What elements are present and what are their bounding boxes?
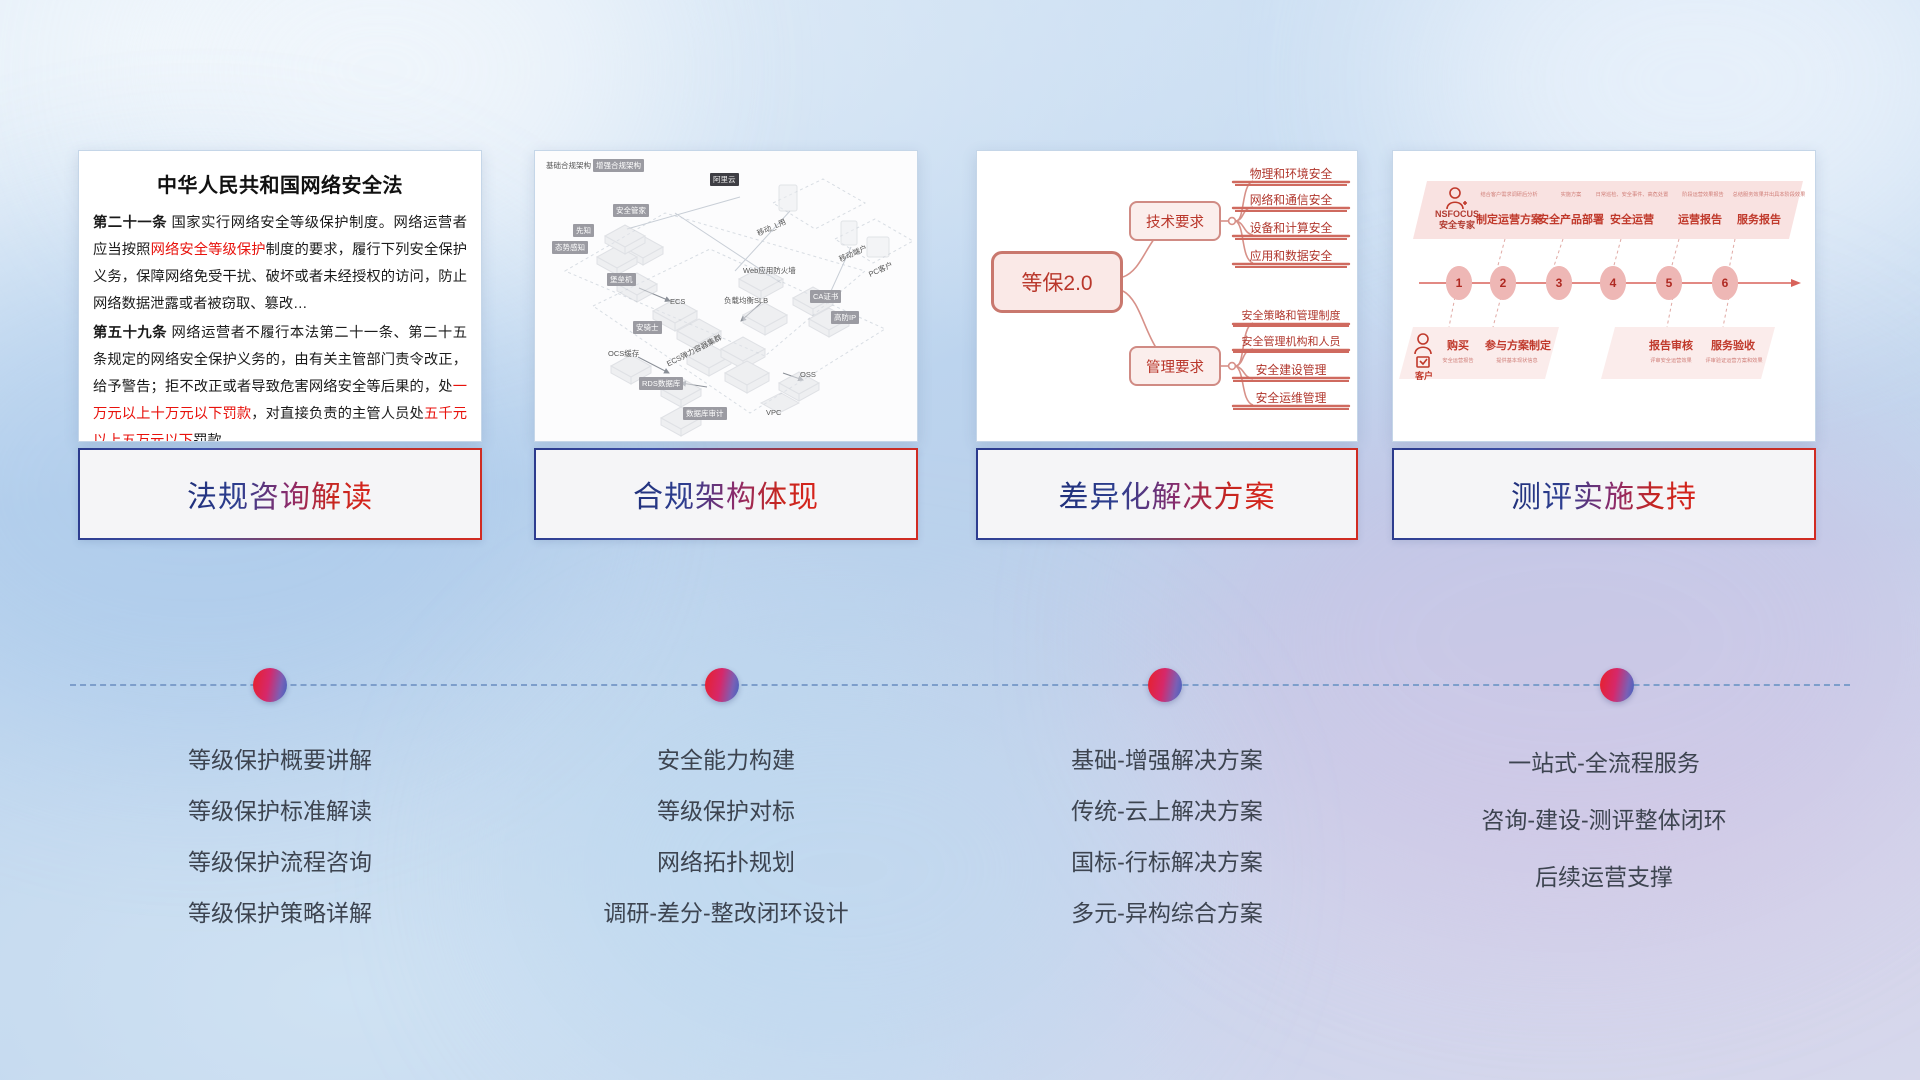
article-number-21: 第二十一条	[93, 215, 167, 231]
arch-node-rds-database: RDS数据库	[639, 377, 683, 390]
timeline-step-number-6: 6	[1712, 266, 1738, 299]
list-item: 等级保护策略详解	[78, 888, 482, 939]
title-box-regulation-consulting[interactable]: 法规咨询解读	[78, 448, 482, 540]
timeline-top-step-3: 安全运营	[1599, 211, 1665, 227]
title-box-compliance-architecture[interactable]: 合规架构体现	[534, 448, 918, 540]
title-box-row: 法规咨询解读 合规架构体现 差异化解决方案 测评实施支持	[0, 448, 1920, 540]
mindmap-leaf-construction-mgmt: 安全建设管理	[1233, 361, 1349, 382]
law-body: 第二十一条 国家实行网络安全等级保护制度。网络运营者应当按照网络安全等级保护制度…	[79, 198, 481, 442]
timeline-bottom-sub-1: 安全运营报告	[1433, 357, 1483, 364]
feature-list-regulation-consulting: 等级保护概要讲解 等级保护标准解读 等级保护流程咨询 等级保护策略详解	[78, 735, 482, 939]
list-item: 等级保护标准解读	[78, 786, 482, 837]
timeline-dot-2[interactable]	[705, 668, 739, 702]
title-box-differentiated-solution[interactable]: 差异化解决方案	[976, 448, 1358, 540]
architecture-canvas: 基础合规架构 增强合规架构 阿里云 安全管家 先知 态势感知 堡垒机 ECS 安…	[535, 151, 917, 441]
timeline-top-sub-5: 总结服务效果并出具本阶段效果	[1725, 191, 1813, 198]
arch-node-anqishi: 安骑士	[633, 321, 662, 334]
arch-tab-enhanced[interactable]: 增强合规架构	[593, 159, 644, 172]
mind-map-canvas: 等保2.0 技术要求 管理要求 物理和环境安全 网络和通信安全 设备和计算安全 …	[977, 151, 1357, 441]
timeline-top-step-4: 运营报告	[1667, 211, 1733, 227]
timeline-bottom-sub-4: 评审验证运营方案和效果	[1699, 357, 1769, 364]
title-label: 差异化解决方案	[1059, 472, 1276, 516]
card-row: 中华人民共和国网络安全法 第二十一条 国家实行网络安全等级保护制度。网络运营者应…	[0, 150, 1920, 442]
timeline-dot-3[interactable]	[1148, 668, 1182, 702]
timeline-dot-1[interactable]	[253, 668, 287, 702]
list-item: 等级保护流程咨询	[78, 837, 482, 888]
title-label: 合规架构体现	[633, 472, 819, 516]
arch-node-security-butler: 安全管家	[613, 204, 649, 217]
mindmap-leaf-org-personnel: 安全管理机构和人员	[1233, 333, 1349, 353]
list-item: 网络拓扑规划	[534, 837, 918, 888]
timeline-bottom-step-2: 参与方案制定	[1481, 337, 1555, 353]
mindmap-root-node: 等保2.0	[991, 251, 1123, 313]
list-item: 一站式-全流程服务	[1392, 735, 1816, 792]
law-run-highlight: 网络安全等级保护	[151, 242, 266, 258]
card-service-timeline[interactable]: NSFOCUS 安全专家 客户 结合客户需求调研后分析 制定运营方案 实施方案 …	[1392, 150, 1816, 442]
timeline-dot-4[interactable]	[1600, 668, 1634, 702]
list-item: 多元-异构综合方案	[976, 888, 1358, 939]
list-item: 等级保护对标	[534, 786, 918, 837]
timeline-top-step-2: 安全产品部署	[1533, 211, 1609, 227]
arch-node-xianzhi: 先知	[573, 224, 594, 237]
law-run: 罚款。	[193, 433, 236, 442]
list-item: 基础-增强解决方案	[976, 735, 1358, 786]
timeline-top-step-5: 服务报告	[1729, 211, 1789, 227]
feature-list-compliance-architecture: 安全能力构建 等级保护对标 网络拓扑规划 调研-差分-整改闭环设计	[534, 735, 918, 939]
list-item: 咨询-建设-测评整体闭环	[1392, 792, 1816, 849]
arch-node-vpc: VPC	[763, 407, 784, 418]
timeline-actor-customer: 客户	[1403, 369, 1445, 382]
service-timeline-canvas: NSFOCUS 安全专家 客户 结合客户需求调研后分析 制定运营方案 实施方案 …	[1393, 151, 1815, 441]
law-title: 中华人民共和国网络安全法	[79, 169, 481, 198]
title-label: 法规咨询解读	[187, 472, 373, 516]
arch-node-waf: Web应用防火墙	[740, 264, 799, 277]
law-paragraph-59: 第五十九条 网络运营者不履行本法第二十一条、第二十五条规定的网络安全保护义务的，…	[93, 320, 467, 442]
timeline-step-number-2: 2	[1490, 266, 1516, 299]
arch-tab-basic[interactable]: 基础合规架构	[543, 159, 594, 172]
list-item: 后续运营支撑	[1392, 849, 1816, 906]
arch-node-ca-certificate: CA证书	[810, 290, 841, 303]
arch-node-ocs-cache: OCS缓存	[605, 347, 642, 360]
law-run: ，对直接负责的主管人员处	[251, 406, 424, 422]
timeline-dashed-line	[70, 684, 1850, 686]
timeline-top-sub-3: 日常巡检、安全事件、高危处置	[1591, 191, 1673, 198]
timeline-top-sub-1: 结合客户需求调研后分析	[1475, 191, 1543, 198]
list-item: 调研-差分-整改闭环设计	[534, 888, 918, 939]
article-number-59: 第五十九条	[93, 325, 167, 341]
mindmap-leaf-device-compute: 设备和计算安全	[1235, 219, 1347, 240]
feature-list-assessment-support: 一站式-全流程服务 咨询-建设-测评整体闭环 后续运营支撑	[1392, 735, 1816, 906]
timeline-bottom-step-4: 服务验收	[1703, 337, 1763, 353]
arch-node-slb: 负载均衡SLB	[721, 294, 771, 307]
timeline-step-number-5: 5	[1656, 266, 1682, 299]
timeline-bottom-sub-2: 提供基本现状信息	[1485, 357, 1549, 364]
arch-node-ecs: ECS	[667, 296, 688, 307]
card-law-document[interactable]: 中华人民共和国网络安全法 第二十一条 国家实行网络安全等级保护制度。网络运营者应…	[78, 150, 482, 442]
card-architecture-diagram[interactable]: 基础合规架构 增强合规架构 阿里云 安全管家 先知 态势感知 堡垒机 ECS 安…	[534, 150, 918, 442]
timeline-bottom-sub-3: 评审安全运营效果	[1639, 357, 1703, 364]
mindmap-leaf-app-data: 应用和数据安全	[1235, 247, 1347, 268]
timeline-step-number-1: 1	[1446, 266, 1472, 299]
arch-node-aliyun: 阿里云	[710, 173, 739, 186]
arch-node-situation-awareness: 态势感知	[552, 241, 588, 254]
title-label: 测评实施支持	[1511, 472, 1697, 516]
title-box-assessment-support[interactable]: 测评实施支持	[1392, 448, 1816, 540]
arch-node-bastion-host: 堡垒机	[607, 273, 636, 286]
feature-list-differentiated-solution: 基础-增强解决方案 传统-云上解决方案 国标-行标解决方案 多元-异构综合方案	[976, 735, 1358, 939]
arch-node-oss: OSS	[797, 369, 819, 380]
list-item: 国标-行标解决方案	[976, 837, 1358, 888]
timeline-bottom-step-3: 报告审核	[1641, 337, 1701, 353]
mindmap-leaf-security-policy: 安全策略和管理制度	[1233, 307, 1349, 327]
list-item: 安全能力构建	[534, 735, 918, 786]
milestone-timeline	[0, 660, 1920, 710]
timeline-bottom-step-1: 购买	[1437, 337, 1479, 353]
mindmap-leaf-physical-env: 物理和环境安全	[1235, 165, 1347, 186]
mindmap-leaf-network-comm: 网络和通信安全	[1235, 191, 1347, 212]
arch-node-anti-ddos-ip: 高防IP	[831, 311, 859, 324]
law-paragraph-21: 第二十一条 国家实行网络安全等级保护制度。网络运营者应当按照网络安全等级保护制度…	[93, 210, 467, 318]
card-mind-map[interactable]: 等保2.0 技术要求 管理要求 物理和环境安全 网络和通信安全 设备和计算安全 …	[976, 150, 1358, 442]
mindmap-leaf-ops-mgmt: 安全运维管理	[1233, 389, 1349, 410]
timeline-step-number-4: 4	[1600, 266, 1626, 299]
mindmap-branch-technical: 技术要求	[1129, 201, 1221, 241]
list-item: 传统-云上解决方案	[976, 786, 1358, 837]
expert-role: 安全专家	[1439, 220, 1475, 230]
timeline-step-number-3: 3	[1546, 266, 1572, 299]
list-item: 等级保护概要讲解	[78, 735, 482, 786]
feature-list-row: 等级保护概要讲解 等级保护标准解读 等级保护流程咨询 等级保护策略详解 安全能力…	[0, 735, 1920, 955]
mindmap-branch-management: 管理要求	[1129, 346, 1221, 386]
arch-node-db-audit: 数据库审计	[683, 407, 727, 420]
